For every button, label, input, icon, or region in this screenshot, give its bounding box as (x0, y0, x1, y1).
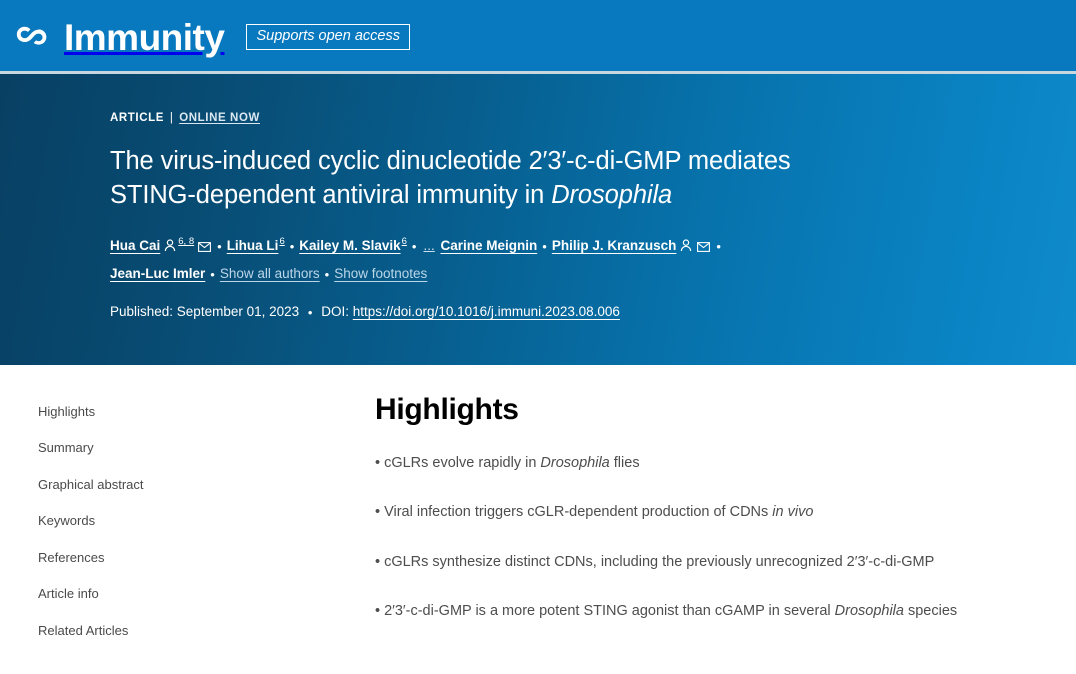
online-now-link[interactable]: ONLINE NOW (179, 112, 260, 124)
bullet-glyph: • (375, 554, 384, 570)
highlight-emphasis: in vivo (772, 504, 813, 520)
article-section-nav: Highlights Summary Graphical abstract Ke… (0, 393, 375, 650)
author-separator: • (320, 262, 335, 287)
author-link-philip-j-kranzusch[interactable]: Philip J. Kranzusch (552, 238, 677, 253)
highlight-text: cGLRs evolve rapidly in (384, 455, 540, 471)
author-affiliation-sup[interactable]: 6, 8 (177, 236, 194, 247)
highlight-item: •2′3′-c-di-GMP is a more potent STING ag… (375, 601, 1066, 621)
sidebar-item-keywords[interactable]: Keywords (38, 503, 375, 540)
article-hero-banner: ARTICLE | ONLINE NOW The virus-induced c… (0, 74, 1076, 365)
article-title: The virus-induced cyclic dinucleotide 2′… (110, 145, 870, 213)
doi-label: DOI: (321, 304, 349, 319)
author-separator: • (212, 234, 227, 259)
author-link-hua-cai[interactable]: Hua Cai (110, 238, 160, 253)
highlight-emphasis: Drosophila (835, 603, 904, 619)
highlight-text: Viral infection triggers cGLR-dependent … (384, 504, 772, 520)
highlight-emphasis: Drosophila (540, 455, 609, 471)
author-profile-icon[interactable] (680, 235, 692, 261)
pubinfo-separator: • (303, 305, 318, 320)
highlight-text: 2′3′-c-di-GMP is a more potent STING ago… (384, 603, 835, 619)
author-separator: • (205, 262, 220, 287)
sidebar-item-related-articles[interactable]: Related Articles (38, 613, 375, 650)
author-link-carine-meignin[interactable]: Carine Meignin (441, 238, 538, 253)
author-email-icon[interactable] (198, 235, 211, 261)
bullet-glyph: • (375, 455, 384, 471)
highlights-section: Highlights •cGLRs evolve rapidly in Dros… (375, 393, 1076, 650)
authors-ellipsis[interactable]: ... (421, 238, 436, 253)
journal-title: Immunity (64, 19, 224, 56)
author-link-lihua-li[interactable]: Lihua Li (227, 238, 279, 253)
sidebar-item-summary[interactable]: Summary (38, 430, 375, 467)
highlight-text-tail: species (904, 603, 957, 619)
bullet-glyph: • (375, 603, 384, 619)
show-footnotes-link[interactable]: Show footnotes (334, 266, 427, 281)
highlight-item: •cGLRs evolve rapidly in Drosophila flie… (375, 453, 1066, 473)
publication-info: Published: September 01, 2023 • DOI: htt… (110, 304, 1076, 320)
author-link-jean-luc-imler[interactable]: Jean-Luc Imler (110, 266, 205, 281)
sidebar-item-graphical-abstract[interactable]: Graphical abstract (38, 466, 375, 503)
journal-brand-link[interactable]: Immunity (14, 18, 224, 56)
author-list: Hua Cai6, 8•Lihua Li6•Kailey M. Slavik6•… (110, 233, 910, 288)
author-profile-icon[interactable] (164, 235, 176, 261)
sidebar-item-article-info[interactable]: Article info (38, 576, 375, 613)
author-email-icon[interactable] (697, 235, 710, 261)
article-kicker: ARTICLE | ONLINE NOW (110, 112, 1076, 124)
kicker-separator: | (168, 112, 176, 124)
page-title: Highlights (375, 393, 1066, 427)
author-link-kailey-m-slavik[interactable]: Kailey M. Slavik (299, 238, 400, 253)
doi-link[interactable]: https://doi.org/10.1016/j.immuni.2023.08… (353, 304, 620, 319)
sidebar-item-references[interactable]: References (38, 539, 375, 576)
highlight-item: •Viral infection triggers cGLR-dependent… (375, 502, 1066, 522)
highlight-text: cGLRs synthesize distinct CDNs, includin… (384, 554, 934, 570)
author-separator: • (711, 234, 726, 259)
author-separator: • (537, 234, 552, 259)
highlight-text-tail: flies (610, 455, 640, 471)
article-title-main: The virus-induced cyclic dinucleotide 2′… (110, 147, 791, 209)
bullet-glyph: • (375, 504, 384, 520)
article-body: Highlights Summary Graphical abstract Ke… (0, 365, 1076, 650)
published-date: Published: September 01, 2023 (110, 304, 299, 319)
show-all-authors-link[interactable]: Show all authors (220, 266, 320, 281)
journal-header-bar: Immunity Supports open access (0, 0, 1076, 74)
highlight-item: •cGLRs synthesize distinct CDNs, includi… (375, 552, 1066, 572)
article-type-label: ARTICLE (110, 112, 164, 124)
sidebar-item-highlights[interactable]: Highlights (38, 393, 375, 430)
article-title-species: Drosophila (551, 181, 672, 209)
open-access-badge: Supports open access (246, 24, 409, 50)
author-separator: • (285, 234, 300, 259)
author-separator: • (407, 234, 422, 259)
cell-press-infinity-logo-icon (14, 18, 52, 56)
